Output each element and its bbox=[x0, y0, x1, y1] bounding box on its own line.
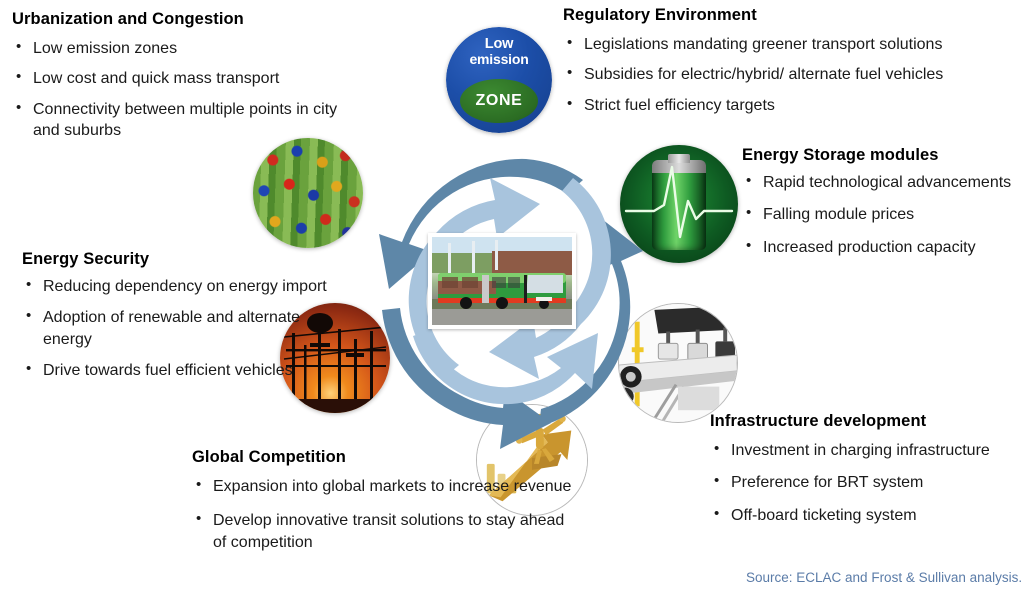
lez-line-2: emission bbox=[469, 52, 528, 66]
source-note: Source: ECLAC and Frost & Sullivan analy… bbox=[746, 570, 1022, 585]
urbanization-bullet-list: •Low emission zones •Low cost and quick … bbox=[12, 38, 352, 142]
bullet-glyph: • bbox=[567, 94, 572, 114]
global-competition-bullet-list: •Expansion into global markets to increa… bbox=[192, 476, 572, 553]
bullet-glyph: • bbox=[196, 509, 201, 529]
lez-zone-label: ZONE bbox=[476, 92, 523, 110]
bullet-glyph: • bbox=[746, 203, 751, 223]
list-item-text: Low emission zones bbox=[33, 40, 177, 57]
block-global-competition: Global Competition •Expansion into globa… bbox=[192, 448, 572, 566]
bullet-glyph: • bbox=[567, 33, 572, 53]
bullet-glyph: • bbox=[714, 439, 719, 459]
urbanization-heading: Urbanization and Congestion bbox=[12, 10, 352, 29]
lez-zone-badge: ZONE bbox=[460, 79, 538, 124]
bullet-glyph: • bbox=[714, 471, 719, 491]
regulatory-bullet-list: •Legislations mandating greener transpor… bbox=[563, 34, 1013, 116]
diagram-canvas: Low emission ZONE bbox=[0, 0, 1024, 594]
list-item-text: Legislations mandating greener transport… bbox=[584, 36, 942, 53]
bullet-glyph: • bbox=[16, 37, 21, 57]
energy-security-bullet-list: •Reducing dependency on energy import •A… bbox=[22, 276, 342, 382]
list-item-text: Reducing dependency on energy import bbox=[43, 278, 327, 295]
bullet-glyph: • bbox=[714, 504, 719, 524]
bus-image bbox=[432, 237, 572, 325]
infrastructure-heading: Infrastructure development bbox=[710, 412, 1022, 431]
list-item-text: Off-board ticketing system bbox=[731, 507, 917, 524]
bullet-glyph: • bbox=[26, 275, 31, 295]
block-energy-security: Energy Security •Reducing dependency on … bbox=[22, 250, 342, 392]
list-item: •Low emission zones bbox=[12, 38, 352, 59]
energy-security-heading: Energy Security bbox=[22, 250, 342, 269]
list-item-text: Develop innovative transit solutions to … bbox=[213, 512, 564, 550]
list-item: •Subsidies for electric/hybrid/ alternat… bbox=[563, 64, 1013, 85]
list-item-text: Adoption of renewable and alternate ener… bbox=[43, 309, 300, 347]
list-item: •Preference for BRT system bbox=[710, 472, 1022, 493]
bullet-glyph: • bbox=[26, 359, 31, 379]
list-item-text: Strict fuel efficiency targets bbox=[584, 97, 775, 114]
storage-bullet-list: •Rapid technological advancements •Falli… bbox=[742, 172, 1024, 258]
list-item: •Low cost and quick mass transport bbox=[12, 68, 352, 89]
list-item: •Reducing dependency on energy import bbox=[22, 276, 342, 297]
list-item: •Strict fuel efficiency targets bbox=[563, 95, 1013, 116]
list-item-text: Drive towards fuel efficient vehicles bbox=[43, 362, 293, 379]
list-item-text: Increased production capacity bbox=[763, 239, 976, 256]
bullet-glyph: • bbox=[196, 475, 201, 495]
infrastructure-bullet-list: •Investment in charging infrastructure •… bbox=[710, 440, 1022, 526]
list-item-text: Falling module prices bbox=[763, 206, 914, 223]
block-infrastructure-development: Infrastructure development •Investment i… bbox=[710, 412, 1022, 537]
storage-heading: Energy Storage modules bbox=[742, 146, 1024, 165]
bullet-glyph: • bbox=[16, 67, 21, 87]
list-item-text: Preference for BRT system bbox=[731, 474, 923, 491]
list-item-text: Subsidies for electric/hybrid/ alternate… bbox=[584, 66, 943, 83]
list-item-text: Rapid technological advancements bbox=[763, 174, 1011, 191]
list-item: •Expansion into global markets to increa… bbox=[192, 476, 572, 497]
list-item-text: Investment in charging infrastructure bbox=[731, 442, 990, 459]
bullet-glyph: • bbox=[567, 63, 572, 83]
list-item-text: Expansion into global markets to increas… bbox=[213, 478, 571, 495]
list-item: •Off-board ticketing system bbox=[710, 505, 1022, 526]
block-energy-storage-modules: Energy Storage modules •Rapid technologi… bbox=[742, 146, 1024, 269]
bullet-glyph: • bbox=[746, 171, 751, 191]
block-urbanization: Urbanization and Congestion •Low emissio… bbox=[12, 10, 352, 142]
list-item: •Investment in charging infrastructure bbox=[710, 440, 1022, 461]
center-bus-photo bbox=[428, 233, 576, 329]
bullet-glyph: • bbox=[16, 98, 21, 118]
list-item: •Develop innovative transit solutions to… bbox=[192, 510, 572, 553]
list-item: •Connectivity between multiple points in… bbox=[12, 99, 352, 142]
list-item-text: Connectivity between multiple points in … bbox=[33, 101, 337, 139]
list-item: •Adoption of renewable and alternate ene… bbox=[22, 307, 342, 350]
regulatory-heading: Regulatory Environment bbox=[563, 6, 1013, 25]
lez-line-1: Low bbox=[485, 37, 513, 52]
list-item: •Increased production capacity bbox=[742, 237, 1024, 258]
list-item: •Drive towards fuel efficient vehicles bbox=[22, 360, 342, 381]
list-item: •Rapid technological advancements bbox=[742, 172, 1024, 193]
bullet-glyph: • bbox=[746, 236, 751, 256]
bullet-glyph: • bbox=[26, 306, 31, 326]
list-item: •Legislations mandating greener transpor… bbox=[563, 34, 1013, 55]
list-item-text: Low cost and quick mass transport bbox=[33, 70, 279, 87]
block-regulatory-environment: Regulatory Environment •Legislations man… bbox=[563, 6, 1013, 116]
list-item: •Falling module prices bbox=[742, 204, 1024, 225]
